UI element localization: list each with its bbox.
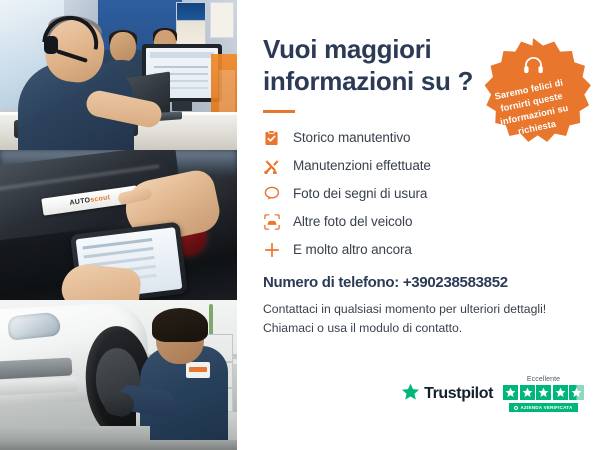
contact-copy-line-2: Chiamaci o usa il modulo di contatto. (263, 319, 574, 338)
mechanic-inspection-photo (0, 300, 237, 450)
list-item-label: E molto altro ancora (293, 242, 412, 257)
trustpilot-logo: Trustpilot (401, 383, 493, 406)
list-item: Altre foto del veicolo (263, 213, 574, 230)
trustpilot-stars (503, 385, 584, 400)
contact-copy: Contattaci in qualsiasi momento per ulte… (263, 300, 574, 338)
verified-company-badge: AZIENDA VERIFICATA (509, 403, 577, 412)
clipboard-check-icon (263, 129, 280, 146)
list-item: Manutenzioni effettuate (263, 157, 574, 174)
list-item-label: Altre foto del veicolo (293, 214, 412, 229)
rating-star (520, 385, 535, 400)
speech-bubble-icon (263, 185, 280, 202)
feature-list: Storico manutentivo Manutenzioni effettu… (263, 129, 574, 258)
vehicle-label-sticker-text: AUTOscout (69, 194, 111, 207)
list-item: E molto altro ancora (263, 241, 574, 258)
phone-number-value[interactable]: +390238583852 (403, 274, 508, 291)
rating-star (536, 385, 551, 400)
rating-star (553, 385, 568, 400)
trustpilot-widget[interactable]: Trustpilot Eccellente (401, 376, 584, 412)
promo-banner: AUTOscout (0, 0, 600, 450)
list-item-label: Storico manutentivo (293, 130, 410, 145)
mechanic-hair (152, 308, 208, 342)
garage-floor (0, 440, 237, 450)
content-panel: Vuoi maggiori informazioni su ? Storico … (237, 0, 600, 450)
list-item: Foto dei segni di usura (263, 185, 574, 202)
call-center-agent-photo (0, 0, 237, 150)
colleague-near-head (110, 32, 136, 62)
plus-icon (263, 241, 280, 258)
vehicle-label-tablet-photo: AUTOscout (0, 150, 237, 300)
phone-number-label: Numero di telefono: (263, 274, 403, 291)
phone-number-line: Numero di telefono: +390238583852 (263, 274, 574, 291)
uniform-logo-patch (186, 362, 210, 378)
page-title: Vuoi maggiori informazioni su ? (263, 34, 478, 97)
list-item-label: Foto dei segni di usura (293, 186, 427, 201)
verified-company-label: AZIENDA VERIFICATA (520, 405, 572, 410)
trustpilot-star-icon (401, 383, 420, 406)
trustpilot-rating-word: Eccellente (527, 376, 560, 383)
photo-frame-icon (263, 213, 280, 230)
trustpilot-wordmark: Trustpilot (424, 385, 493, 403)
rating-star-half (569, 385, 584, 400)
verified-check-icon (514, 406, 518, 410)
photo-column: AUTOscout (0, 0, 237, 450)
rating-star (503, 385, 518, 400)
trustpilot-rating: Eccellente (503, 376, 584, 412)
list-item-label: Manutenzioni effettuate (293, 158, 431, 173)
wall-poster-secondary (210, 2, 234, 38)
headset-icon (523, 56, 544, 80)
contact-copy-line-1: Contattaci in qualsiasi momento per ulte… (263, 300, 574, 319)
wrench-cross-icon (263, 157, 280, 174)
title-divider (263, 110, 295, 113)
monitor-stand (172, 101, 192, 111)
wall-poster (176, 2, 206, 46)
